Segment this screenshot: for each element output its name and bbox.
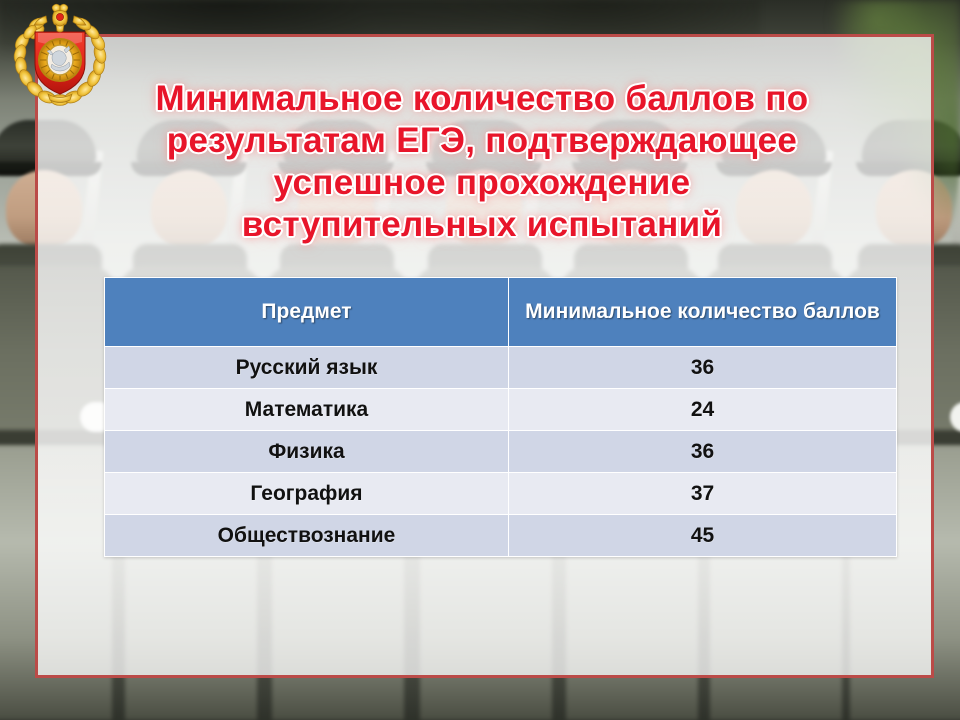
slide-root: Минимальное количество баллов по результ… xyxy=(0,0,960,720)
minimum-scores-table: Предмет Минимальное количество баллов Ру… xyxy=(104,277,897,557)
table-row: Русский язык 36 xyxy=(105,347,897,389)
table-row: Физика 36 xyxy=(105,431,897,473)
column-header-minimum-score: Минимальное количество баллов xyxy=(509,278,897,347)
cell-score: 45 xyxy=(509,515,897,557)
page-title: Минимальное количество баллов по результ… xyxy=(96,78,868,246)
cell-subject: Физика xyxy=(105,431,509,473)
cell-score: 37 xyxy=(509,473,897,515)
table-header-row: Предмет Минимальное количество баллов xyxy=(105,278,897,347)
cell-score: 36 xyxy=(509,347,897,389)
title-line-3: успешное прохождение xyxy=(96,162,868,204)
title-line-2: результатам ЕГЭ, подтверждающее xyxy=(96,120,868,162)
military-crest-emblem xyxy=(8,2,112,112)
cell-score: 24 xyxy=(509,389,897,431)
table-row: География 37 xyxy=(105,473,897,515)
cell-subject: Математика xyxy=(105,389,509,431)
title-line-4: вступительных испытаний xyxy=(96,204,868,246)
cell-subject: География xyxy=(105,473,509,515)
title-line-1: Минимальное количество баллов по xyxy=(96,78,868,120)
cell-subject: Русский язык xyxy=(105,347,509,389)
cell-subject: Обществознание xyxy=(105,515,509,557)
cell-score: 36 xyxy=(509,431,897,473)
table-row: Математика 24 xyxy=(105,389,897,431)
column-header-subject: Предмет xyxy=(105,278,509,347)
table-row: Обществознание 45 xyxy=(105,515,897,557)
